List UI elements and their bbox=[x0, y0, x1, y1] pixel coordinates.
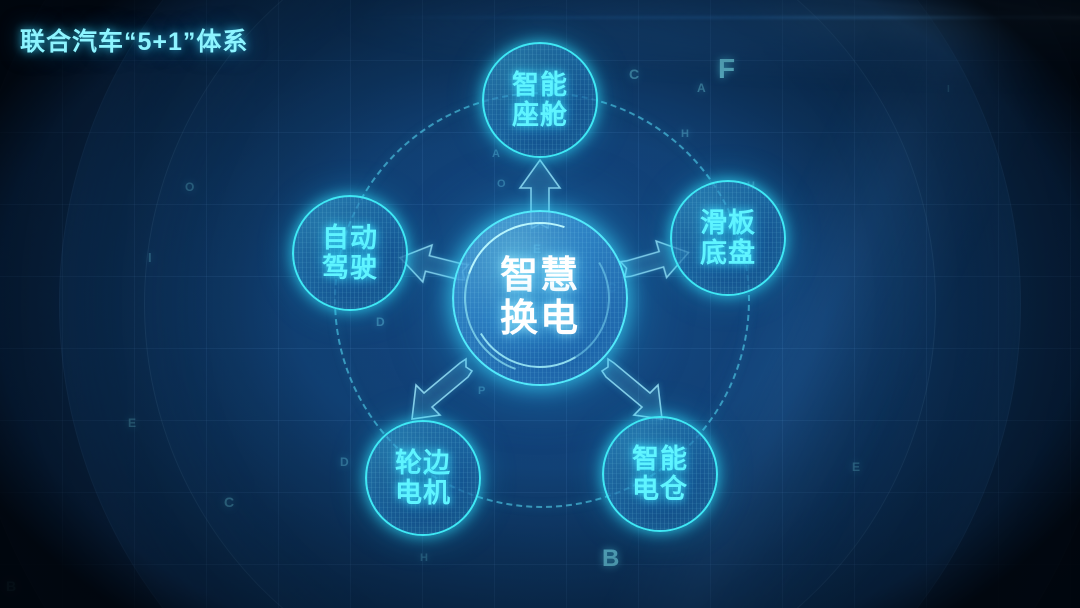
node-battery-label-line1: 智能 bbox=[632, 444, 688, 474]
background-letter: E bbox=[852, 460, 860, 474]
slide-canvas: ECAFIHAOHOIECEDPEDECHBB 联合汽车“5+1”体系 智能 bbox=[0, 0, 1080, 608]
node-battery-label-line2: 电仓 bbox=[632, 474, 688, 504]
node-cockpit-label-line2: 座舱 bbox=[512, 100, 568, 130]
background-letter: D bbox=[340, 455, 349, 469]
node-chassis-label-line2: 底盘 bbox=[700, 238, 756, 268]
node-core-smart-swap[interactable]: 智慧 换电 bbox=[452, 210, 628, 386]
page-title: 联合汽车“5+1”体系 bbox=[20, 22, 248, 58]
node-wheel-motor[interactable]: 轮边 电机 bbox=[365, 420, 481, 536]
background-letter: C bbox=[629, 66, 639, 82]
background-letter: I bbox=[148, 250, 152, 265]
node-chassis-label-line1: 滑板 bbox=[700, 208, 756, 238]
node-motor-label-line1: 轮边 bbox=[395, 448, 451, 478]
node-chassis[interactable]: 滑板 底盘 bbox=[670, 180, 786, 296]
background-letter: H bbox=[420, 552, 428, 564]
core-label-line1: 智慧 bbox=[500, 255, 580, 298]
node-autodrive-label-line1: 自动 bbox=[322, 223, 378, 253]
arrow-center-to-motor bbox=[406, 353, 478, 425]
arrow-center-to-battery bbox=[596, 353, 668, 425]
node-battery-warehouse[interactable]: 智能 电仓 bbox=[602, 416, 718, 532]
background-letter: A bbox=[697, 81, 706, 95]
background-letter: B bbox=[6, 578, 16, 594]
node-motor-label-line2: 电机 bbox=[395, 478, 451, 508]
node-autodrive-label-line2: 驾驶 bbox=[322, 253, 378, 283]
background-letter: F bbox=[718, 53, 735, 85]
node-cockpit-label-line1: 智能 bbox=[512, 70, 568, 100]
background-letter: D bbox=[376, 315, 385, 329]
background-letter: P bbox=[478, 385, 485, 397]
background-letter: B bbox=[602, 545, 619, 573]
background-letter: H bbox=[681, 128, 689, 140]
background-letter: O bbox=[185, 180, 194, 194]
node-cockpit[interactable]: 智能 座舱 bbox=[482, 42, 598, 158]
background-letter: E bbox=[128, 416, 136, 430]
core-label-line2: 换电 bbox=[500, 298, 580, 341]
background-letter: C bbox=[224, 494, 234, 510]
node-autonomous-driving[interactable]: 自动 驾驶 bbox=[292, 195, 408, 311]
background-letter: O bbox=[497, 178, 506, 190]
background-letter: I bbox=[947, 84, 950, 95]
background-letter: A bbox=[492, 148, 500, 160]
